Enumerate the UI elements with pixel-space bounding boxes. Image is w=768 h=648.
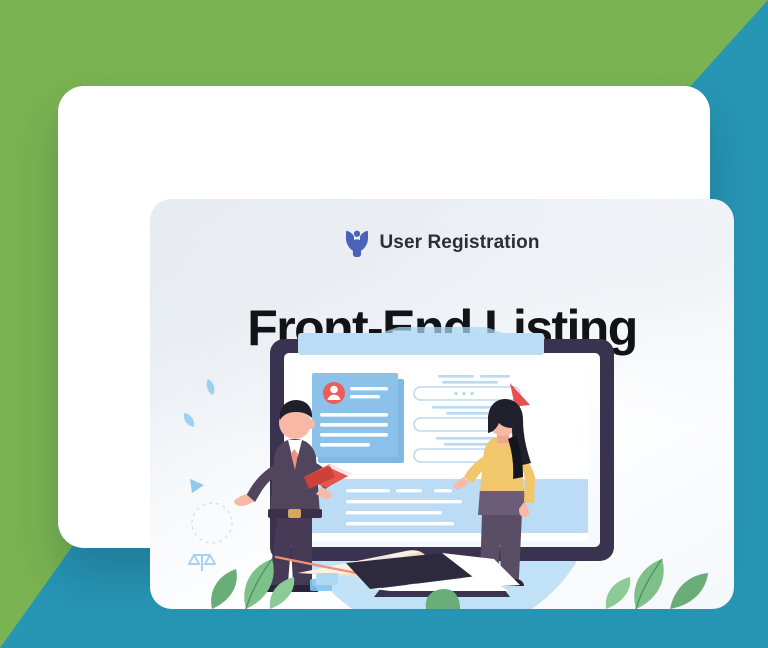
profile-card [312, 373, 404, 463]
decor-accents-left [184, 379, 215, 493]
feature-panel: User Registration Front-End Listing [150, 199, 734, 609]
scales-icon-decor [189, 555, 215, 571]
front-end-listing-hero-illustration [150, 327, 734, 609]
plant-right [606, 559, 708, 609]
brand-lockup: User Registration [150, 229, 734, 257]
screen-content [296, 333, 588, 541]
user-registration-logo-icon [344, 229, 370, 257]
feature-card: User Registration Front-End Listing [58, 86, 710, 548]
brand-name: User Registration [379, 232, 539, 254]
screenshot-stage: User Registration Front-End Listing [0, 0, 768, 648]
decor-dotted-ring [192, 503, 232, 543]
avatar-icon [323, 382, 345, 404]
